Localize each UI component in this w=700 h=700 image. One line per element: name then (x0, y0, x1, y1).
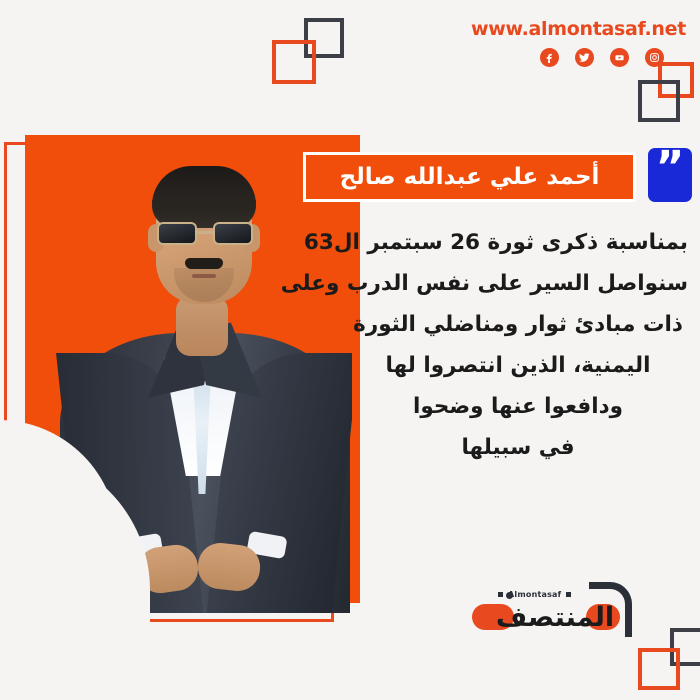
youtube-icon[interactable] (610, 48, 629, 67)
facebook-icon[interactable] (540, 48, 559, 67)
neck (176, 296, 228, 356)
decorative-square-orange (272, 40, 316, 84)
logo-latin-wordmark: Almontasaf (498, 590, 571, 599)
decorative-square-orange (638, 648, 680, 690)
website-url[interactable]: www.almontasaf.net (471, 18, 686, 40)
quote-text: بمناسبة ذكرى ثورة 26 سبتمبر ال63 سنواصل … (348, 222, 688, 468)
quote-line: سنواصل السير على نفس الدرب وعلى (348, 263, 688, 304)
decorative-squares-top (272, 18, 344, 84)
quote-mark-badge: ” (648, 148, 692, 202)
logo-marker-left (498, 592, 503, 597)
social-links[interactable] (540, 48, 664, 67)
decorative-squares-bottom-right (638, 628, 700, 696)
glasses-bridge (197, 231, 213, 234)
instagram-icon[interactable] (645, 48, 664, 67)
lens-right (213, 222, 253, 245)
almontasaf-logo: Almontasaf المنتصف (470, 578, 640, 640)
decorative-squares-right (638, 62, 700, 122)
twitter-icon[interactable] (575, 48, 594, 67)
sunglasses-icon (156, 222, 254, 246)
mouth (192, 274, 216, 278)
logo-arabic-wordmark: المنتصف (470, 600, 640, 634)
quote-mark-icon: ” (656, 146, 685, 190)
mustache (185, 258, 223, 269)
quote-line: بمناسبة ذكرى ثورة 26 سبتمبر ال63 (348, 222, 688, 263)
logo-latin-text: Almontasaf (508, 590, 561, 599)
quote-line: ذات مبادئ ثوار ومناضلي الثورة (348, 304, 688, 345)
speaker-name: أحمد علي عبدالله صالح (340, 164, 600, 190)
quote-line: اليمنية، الذين انتصروا لها (348, 345, 688, 386)
quote-line: ودافعوا عنها وضحوا (348, 386, 688, 427)
decorative-square-dark (638, 80, 680, 122)
quote-line: في سبيلها (348, 427, 688, 468)
logo-marker-right (566, 592, 571, 597)
social-media-quote-card: www.almontasaf.net (0, 0, 700, 700)
speaker-name-banner: أحمد علي عبدالله صالح (303, 152, 636, 202)
lens-left (157, 222, 197, 245)
